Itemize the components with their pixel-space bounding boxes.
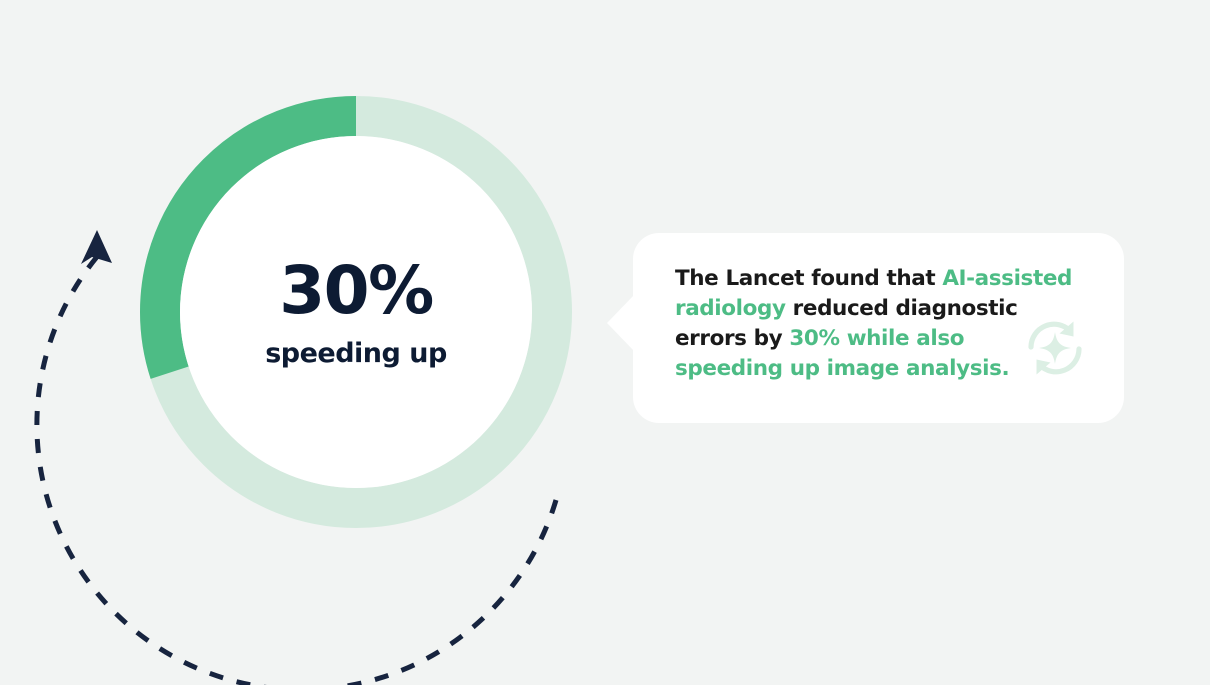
donut-center-disc xyxy=(180,136,532,488)
infographic-canvas: 30% speeding up The Lancet found that AI… xyxy=(0,0,1210,685)
ai-refresh-icon xyxy=(1023,316,1087,380)
callout-text-segment-0: The Lancet found that xyxy=(675,266,942,291)
callout-text: The Lancet found that AI-assisted radiol… xyxy=(675,264,1075,384)
donut-svg xyxy=(140,96,572,528)
progress-donut-chart: 30% speeding up xyxy=(140,96,572,528)
insight-callout-card: The Lancet found that AI-assisted radiol… xyxy=(633,233,1124,423)
callout-tail xyxy=(607,295,634,351)
orbit-arrowhead-icon xyxy=(81,230,112,264)
